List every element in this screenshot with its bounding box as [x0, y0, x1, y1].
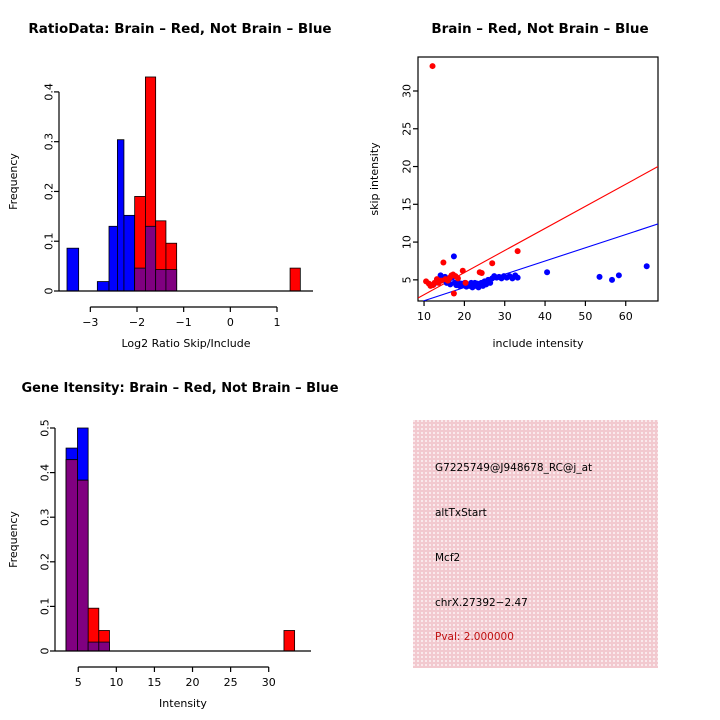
x-axis-tick-label: 30 — [262, 676, 276, 689]
histogram-bar — [88, 642, 99, 651]
histogram-bar — [99, 642, 110, 651]
x-axis-tick-label: 25 — [224, 676, 238, 689]
probe-id-text: G7225749@J948678_RC@j_at — [435, 462, 592, 474]
y-axis-tick-label: 10 — [401, 235, 414, 249]
y-axis-label: Frequency — [7, 153, 20, 210]
ratio-histogram-plot: 00.10.20.30.4−3−2−101Log2 Ratio Skip/Inc… — [0, 0, 360, 360]
histogram-bar — [109, 226, 117, 291]
x-axis-tick-label: 30 — [498, 310, 512, 323]
histogram-bar-overlap — [166, 270, 177, 291]
x-axis-tick-label: 1 — [274, 316, 281, 329]
y-axis-tick-label: 25 — [401, 122, 414, 136]
y-axis-tick-label: 0.1 — [39, 598, 52, 616]
fit-line — [423, 224, 658, 301]
x-axis-tick-label: −3 — [82, 316, 98, 329]
scatter-data — [418, 63, 658, 301]
scatter-point — [515, 248, 521, 254]
y-axis-tick-label: 0.4 — [43, 83, 56, 101]
histogram-bar-overlap — [145, 226, 155, 291]
scatter-content: 51015202530102030405060include intensity… — [368, 57, 658, 350]
x-axis-tick-label: 40 — [538, 310, 552, 323]
x-axis-tick-label: 50 — [578, 310, 592, 323]
x-axis-tick-label: −2 — [129, 316, 145, 329]
y-axis-tick-label: 0.3 — [39, 508, 52, 526]
scatter-point — [616, 272, 622, 278]
svg-gene-content: 00.10.20.30.40.551015202530IntensityFreq… — [7, 419, 311, 710]
y-axis-tick-label: 0.1 — [43, 232, 56, 250]
scatter-point — [544, 269, 550, 275]
x-axis-label: include intensity — [492, 337, 584, 350]
scatter-point — [515, 275, 521, 281]
y-axis-tick-label: 0.4 — [39, 464, 52, 482]
histogram-bar — [117, 140, 124, 291]
panel-intensity-scatter: Brain – Red, Not Brain – Blue 5101520253… — [360, 0, 720, 360]
histogram-bar — [284, 630, 295, 651]
y-axis-tick-label: 0.2 — [39, 553, 52, 571]
histogram-bar — [97, 282, 109, 291]
scatter-point — [451, 253, 457, 259]
x-axis-label: Log2 Ratio Skip/Include — [121, 337, 250, 350]
panel-ratio-histogram: RatioData: Brain – Red, Not Brain – Blue… — [0, 0, 360, 360]
gene-info-box: G7225749@J948678_RC@j_at altTxStart Mcf2… — [413, 420, 658, 668]
scatter-point — [440, 259, 446, 265]
y-axis-tick-label: 0 — [43, 288, 56, 295]
x-axis-tick-label: 15 — [147, 676, 161, 689]
scatter-point — [644, 263, 650, 269]
histogram-bar-overlap — [135, 268, 146, 291]
pval-text: Pval: 2.000000 — [435, 631, 514, 643]
y-axis-label: Frequency — [7, 511, 20, 568]
y-axis-tick-label: 0.3 — [43, 133, 56, 151]
scatter-point — [451, 290, 457, 296]
scatter-point — [489, 260, 495, 266]
x-axis-tick-label: 10 — [109, 676, 123, 689]
x-axis-tick-label: −1 — [176, 316, 192, 329]
x-axis-tick-label: 60 — [619, 310, 633, 323]
y-axis-label: skip intensity — [368, 142, 381, 216]
x-axis-tick-label: 0 — [227, 316, 234, 329]
svg-ratio-content: 00.10.20.30.4−3−2−101Log2 Ratio Skip/Inc… — [7, 77, 313, 350]
x-axis-label: Intensity — [159, 697, 207, 710]
scatter-point — [597, 274, 603, 280]
scatter-point — [479, 270, 485, 276]
y-axis-tick-label: 0.2 — [43, 183, 56, 201]
scatter-point — [460, 268, 466, 274]
gene-symbol-text: Mcf2 — [435, 552, 460, 564]
plot-frame — [418, 57, 658, 301]
scatter-point — [455, 275, 461, 281]
y-axis-tick-label: 0.5 — [39, 419, 52, 437]
scatter-point — [463, 280, 469, 286]
panel-gene-intensity-histogram: Gene Itensity: Brain – Red, Not Brain – … — [0, 360, 360, 720]
histogram-bar — [290, 268, 300, 291]
x-axis-tick-label: 20 — [457, 310, 471, 323]
y-axis-tick-label: 0 — [39, 648, 52, 655]
x-axis-tick-label: 20 — [186, 676, 200, 689]
y-axis-tick-label: 5 — [401, 276, 414, 283]
y-axis-tick-label: 15 — [401, 197, 414, 211]
x-axis-tick-label: 5 — [75, 676, 82, 689]
gene-histogram-plot: 00.10.20.30.40.551015202530IntensityFreq… — [0, 360, 360, 720]
histogram-bar-overlap — [156, 270, 166, 291]
histogram-bar — [66, 460, 77, 651]
y-axis-tick-label: 30 — [401, 84, 414, 98]
histogram-bar — [67, 248, 79, 291]
x-axis-tick-label: 10 — [417, 310, 431, 323]
scatter-point — [609, 277, 615, 283]
histogram-bar — [77, 480, 88, 651]
locus-text: chrX.27392−2.47 — [435, 597, 528, 609]
histogram-bar — [124, 215, 135, 291]
scatter-plot: 51015202530102030405060include intensity… — [360, 0, 720, 360]
event-type-text: altTxStart — [435, 507, 487, 519]
panel-gene-info: G7225749@J948678_RC@j_at altTxStart Mcf2… — [360, 360, 720, 720]
scatter-point — [430, 63, 436, 69]
y-axis-tick-label: 20 — [401, 160, 414, 174]
